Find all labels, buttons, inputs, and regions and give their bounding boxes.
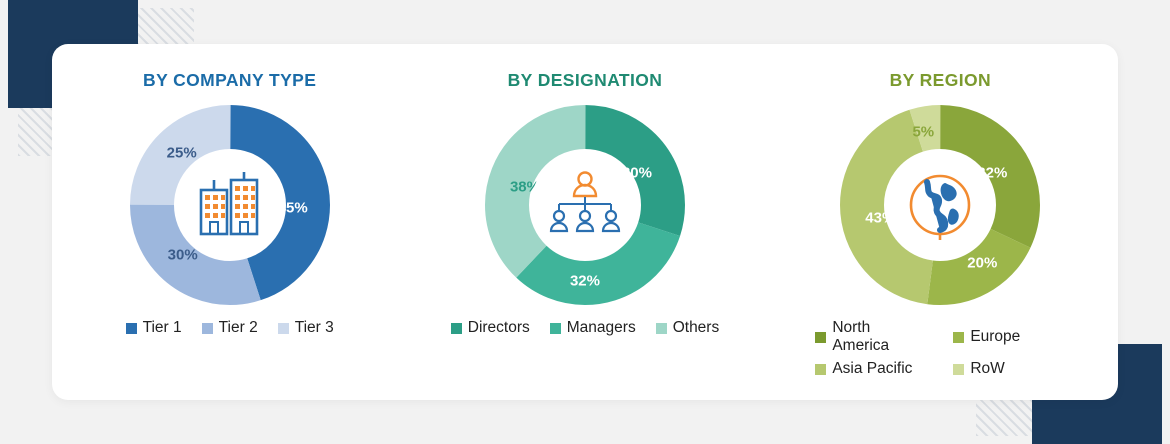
panel-region: BY REGION 32% 20% 43% 5: [763, 44, 1118, 400]
pct-label-europe: 20%: [967, 255, 997, 272]
center-hub-designation: [531, 151, 639, 259]
donut-chart-designation: 30% 32% 38%: [485, 105, 685, 305]
pct-label-tier-2: 30%: [168, 247, 198, 264]
legend-swatch-icon: [451, 323, 462, 334]
panel-designation: BY DESIGNATION 30% 32% 38%: [407, 44, 762, 400]
legend-item[interactable]: Tier 1: [126, 319, 182, 337]
legend-swatch-icon: [815, 364, 826, 375]
globe-icon: [901, 166, 979, 244]
legend-item[interactable]: North America: [815, 319, 927, 355]
panel-title-designation: BY DESIGNATION: [508, 70, 663, 91]
legend-item[interactable]: Tier 2: [202, 319, 258, 337]
legend-swatch-icon: [126, 323, 137, 334]
pct-label-managers: 32%: [570, 273, 600, 290]
legend-item[interactable]: Others: [656, 319, 720, 337]
legend-label: RoW: [970, 360, 1004, 378]
legend-label: Tier 2: [219, 319, 258, 337]
legend-label: Asia Pacific: [832, 360, 912, 378]
legend-swatch-icon: [202, 323, 213, 334]
legend-label: Others: [673, 319, 720, 337]
legend-region: North America Europe Asia Pacific RoW: [815, 319, 1065, 378]
center-hub-region: [886, 151, 994, 259]
legend-label: Europe: [970, 328, 1020, 346]
legend-item[interactable]: Managers: [550, 319, 636, 337]
legend-swatch-icon: [815, 332, 826, 343]
legend-swatch-icon: [550, 323, 561, 334]
legend-label: North America: [832, 319, 927, 355]
pct-label-row: 5%: [912, 124, 934, 141]
pct-label-tier-3: 25%: [167, 145, 197, 162]
legend-swatch-icon: [953, 332, 964, 343]
legend-label: Directors: [468, 319, 530, 337]
legend-label: Managers: [567, 319, 636, 337]
legend-item[interactable]: Europe: [953, 319, 1065, 355]
legend-label: Tier 3: [295, 319, 334, 337]
buildings-icon: [193, 172, 267, 238]
panel-title-company-type: BY COMPANY TYPE: [143, 70, 316, 91]
org-chart-people-icon: [547, 170, 623, 240]
legend-item[interactable]: Directors: [451, 319, 530, 337]
legend-swatch-icon: [953, 364, 964, 375]
legend-swatch-icon: [656, 323, 667, 334]
panels-row: BY COMPANY TYPE 45% 30% 25%: [52, 44, 1118, 400]
donut-chart-region: 32% 20% 43% 5%: [840, 105, 1040, 305]
legend-item[interactable]: Tier 3: [278, 319, 334, 337]
legend-label: Tier 1: [143, 319, 182, 337]
donut-chart-company-type: 45% 30% 25%: [130, 105, 330, 305]
infographic-stage: BY COMPANY TYPE 45% 30% 25%: [0, 0, 1170, 444]
panel-company-type: BY COMPANY TYPE 45% 30% 25%: [52, 44, 407, 400]
legend-item[interactable]: Asia Pacific: [815, 360, 927, 378]
legend-item[interactable]: RoW: [953, 360, 1065, 378]
content-card: BY COMPANY TYPE 45% 30% 25%: [52, 44, 1118, 400]
legend-swatch-icon: [278, 323, 289, 334]
center-hub-company-type: [176, 151, 284, 259]
legend-designation: Directors Managers Others: [451, 319, 719, 337]
legend-company-type: Tier 1 Tier 2 Tier 3: [126, 319, 334, 337]
panel-title-region: BY REGION: [890, 70, 992, 91]
